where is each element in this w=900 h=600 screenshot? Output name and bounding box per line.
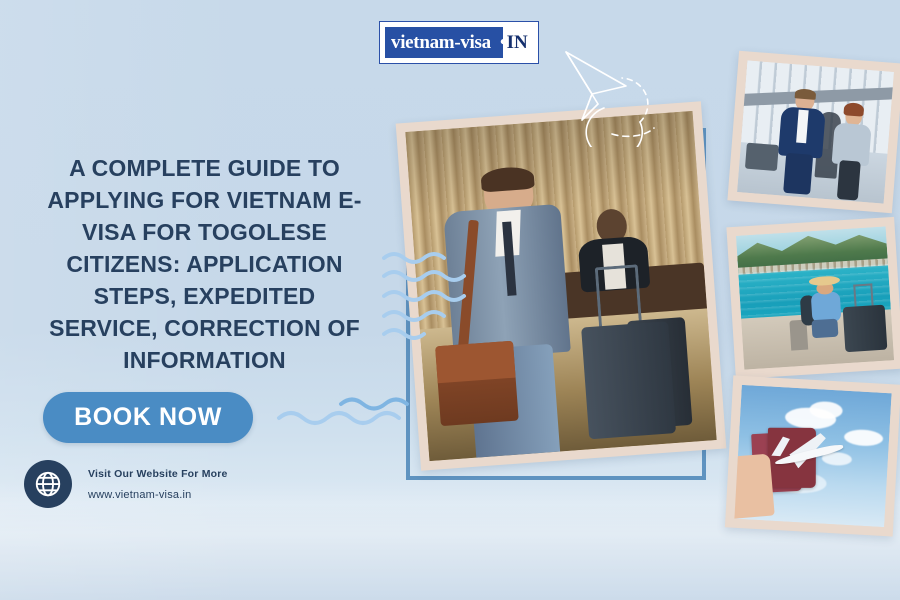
lakeside-photo-scene [736, 226, 894, 369]
page-title: A COMPLETE GUIDE TO APPLYING FOR VIETNAM… [42, 152, 367, 376]
promo-banner: vietnam-visa •IN A COMPLETE GUIDE TO APP… [0, 0, 900, 600]
footer-tagline: Visit Our Website For More [88, 468, 228, 480]
airport-photo-scene [737, 60, 894, 203]
passport-photo [725, 375, 900, 536]
airplane-model [766, 424, 850, 487]
brand-logo[interactable]: vietnam-visa •IN [380, 22, 538, 63]
rolling-suitcase [581, 321, 675, 439]
footer-website-url[interactable]: www.vietnam-visa.in [88, 489, 228, 501]
website-footer: Visit Our Website For More www.vietnam-v… [24, 460, 228, 508]
wave-squiggles [275, 392, 425, 433]
leather-satchel [435, 341, 518, 426]
globe-icon [24, 460, 72, 508]
passport-photo-scene [734, 385, 891, 527]
book-now-button[interactable]: BOOK NOW [43, 392, 253, 443]
logo-suffix: •IN [500, 32, 528, 54]
hero-photo [396, 101, 727, 470]
businessman-figure [432, 165, 602, 459]
logo-suffix-text: IN [507, 32, 528, 53]
lakeside-photo [726, 217, 900, 379]
hero-photo-scene [405, 111, 716, 461]
logo-wordmark: vietnam-visa [391, 32, 491, 54]
airport-photo [727, 51, 900, 213]
logo-dot: • [500, 32, 507, 53]
